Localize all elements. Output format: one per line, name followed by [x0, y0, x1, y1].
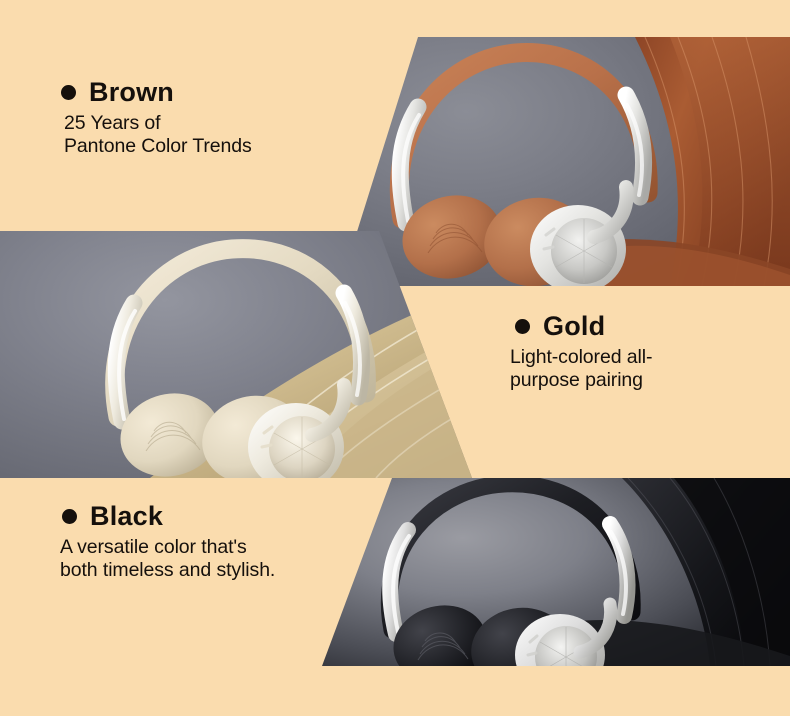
brown-title: Brown — [89, 79, 174, 106]
label-block-black: Black A versatile color that's both time… — [62, 503, 275, 582]
label-block-gold: Gold Light-colored all- purpose pairing — [515, 313, 652, 392]
brown-heading-row: Brown — [61, 79, 252, 106]
bullet-dot-icon — [61, 85, 76, 100]
gold-heading-row: Gold — [515, 313, 652, 340]
brown-subtitle: 25 Years of Pantone Color Trends — [64, 112, 252, 158]
label-block-brown: Brown 25 Years of Pantone Color Trends — [61, 79, 252, 158]
bullet-dot-icon — [62, 509, 77, 524]
gold-subtitle: Light-colored all- purpose pairing — [510, 346, 652, 392]
headphones-illustration-brown — [340, 37, 790, 286]
headphone-color-infographic: Brown 25 Years of Pantone Color Trends G… — [0, 0, 790, 716]
black-title: Black — [90, 503, 163, 530]
black-headphones-photo — [322, 478, 790, 666]
headphones-illustration-black — [322, 478, 790, 666]
brown-headphones-photo — [340, 37, 790, 286]
gold-title: Gold — [543, 313, 605, 340]
bullet-dot-icon — [515, 319, 530, 334]
black-heading-row: Black — [62, 503, 275, 530]
black-subtitle: A versatile color that's both timeless a… — [60, 536, 275, 582]
